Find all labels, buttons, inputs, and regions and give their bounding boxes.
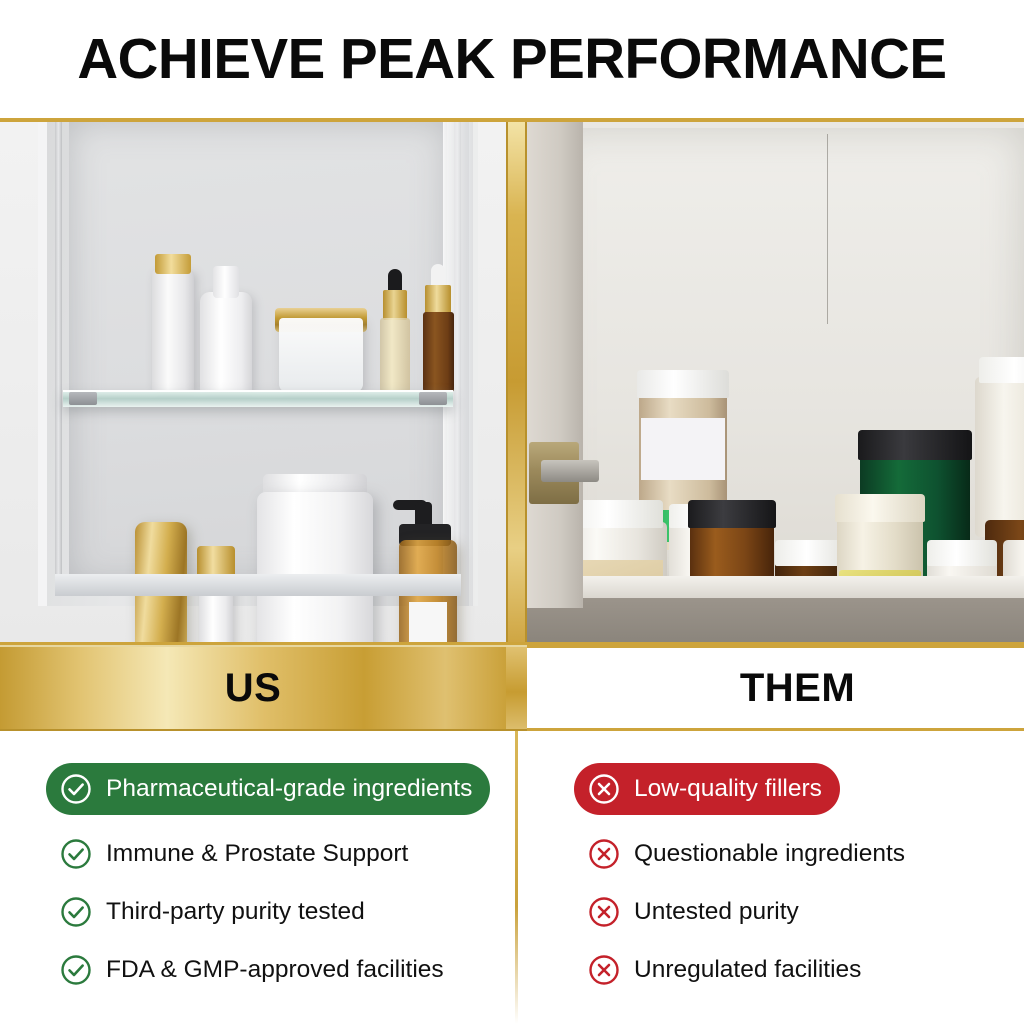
- gold-vertical-divider: [506, 122, 527, 642]
- list-item[interactable]: FDA & GMP-approved facilities: [60, 944, 444, 996]
- shelf-bracket-right: [419, 392, 447, 405]
- gold-cap: [155, 254, 191, 274]
- list-item-label: Questionable ingredients: [634, 840, 905, 868]
- cabinet-base-shelf: [55, 574, 461, 596]
- list-item[interactable]: Unregulated facilities: [588, 944, 861, 996]
- list-item[interactable]: Questionable ingredients: [588, 828, 905, 880]
- bottle-cap-white: [927, 540, 997, 566]
- us-label: US: [225, 666, 282, 711]
- cabinet-hinge-arm: [541, 460, 599, 482]
- list-item-label: Unregulated facilities: [634, 956, 861, 984]
- checklist-divider: [515, 731, 518, 1024]
- hanging-wire: [827, 134, 828, 324]
- list-item[interactable]: Untested purity: [588, 886, 799, 938]
- dropper-collar-gold: [383, 290, 407, 320]
- bottle-cap-white: [637, 370, 729, 398]
- bottle-cap-white: [979, 357, 1024, 383]
- us-them-label-band: US THEM: [0, 645, 1024, 731]
- x-circle-icon: [588, 773, 620, 805]
- x-circle-icon: [588, 954, 620, 986]
- headline-bar: ACHIEVE PEAK PERFORMANCE: [0, 0, 1024, 118]
- dropper-collar-gold-2: [425, 285, 451, 314]
- band-gold-divider: [506, 645, 527, 731]
- list-item[interactable]: Low-quality fillers: [574, 763, 840, 815]
- check-circle-icon: [60, 896, 92, 928]
- x-circle-icon: [588, 838, 620, 870]
- list-item[interactable]: Immune & Prostate Support: [60, 828, 408, 880]
- list-item-label: Pharmaceutical-grade ingredients: [106, 775, 472, 803]
- list-item-label: FDA & GMP-approved facilities: [106, 956, 444, 984]
- bottle-neck: [213, 266, 239, 298]
- x-circle-icon: [588, 896, 620, 928]
- them-cabinet-photo: [527, 122, 1024, 642]
- bottle-cap-black: [688, 500, 776, 528]
- list-item-label: Third-party purity tested: [106, 898, 365, 926]
- them-label: THEM: [740, 666, 855, 711]
- comparison-infographic: ACHIEVE PEAK PERFORMANCE: [0, 0, 1024, 1024]
- cream-jar: [279, 318, 363, 392]
- cabinet-rail-left: [55, 122, 62, 584]
- us-banner: US: [0, 645, 506, 731]
- check-circle-icon: [60, 838, 92, 870]
- shelf-bracket-left: [69, 392, 97, 405]
- comparison-checklists: Pharmaceutical-grade ingredients Immune …: [0, 731, 1024, 1024]
- dispenser-blank-label: [409, 602, 447, 642]
- us-cabinet-photo: CONQUEST NUTRITION ALPHA MALE MULTIVITAM…: [0, 122, 506, 642]
- stained-white-bottle-tall: [975, 377, 1024, 537]
- white-bottle-tall: [152, 270, 194, 392]
- list-item-label: Low-quality fillers: [634, 775, 822, 803]
- bottle-cap-black: [858, 430, 972, 460]
- medicine-cabinet-frame: CONQUEST NUTRITION ALPHA MALE MULTIVITAM…: [38, 122, 478, 606]
- cabinet-door: [527, 122, 583, 608]
- bottle-cap-stained: [835, 494, 925, 522]
- cabinet-base: [527, 598, 1024, 642]
- clear-serum-dropper-bottle: [380, 318, 410, 392]
- alpha-male-product-bottle: CONQUEST NUTRITION ALPHA MALE MULTIVITAM…: [257, 492, 373, 642]
- comparison-photo-band: CONQUEST NUTRITION ALPHA MALE MULTIVITAM…: [0, 118, 1024, 645]
- blank-label: [641, 418, 725, 480]
- list-item[interactable]: Pharmaceutical-grade ingredients: [46, 763, 490, 815]
- glass-shelf: [63, 390, 453, 407]
- page-title: ACHIEVE PEAK PERFORMANCE: [77, 26, 946, 92]
- list-item-label: Immune & Prostate Support: [106, 840, 408, 868]
- white-bottle-round: [200, 292, 252, 392]
- list-item-label: Untested purity: [634, 898, 799, 926]
- check-circle-icon: [60, 954, 92, 986]
- them-banner: THEM: [527, 645, 1024, 731]
- check-circle-icon: [60, 773, 92, 805]
- list-item[interactable]: Third-party purity tested: [60, 886, 365, 938]
- amber-serum-dropper-bottle: [423, 312, 454, 392]
